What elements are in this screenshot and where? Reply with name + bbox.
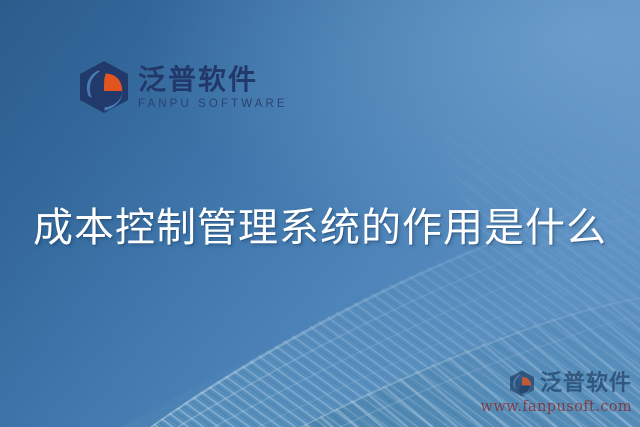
page-title: 成本控制管理系统的作用是什么 [0, 203, 640, 253]
watermark-brand-row: 泛普软件 [509, 370, 632, 397]
watermark: 泛普软件 www.fanpusoft.com [481, 370, 632, 415]
brand-name-en: FANPU SOFTWARE [138, 98, 288, 110]
watermark-url: www.fanpusoft.com [481, 399, 632, 415]
watermark-brand-name: 泛普软件 [540, 373, 632, 395]
brand-logo[interactable]: 泛普软件 FANPU SOFTWARE [78, 60, 288, 114]
promo-banner: 泛普软件 FANPU SOFTWARE 成本控制管理系统的作用是什么 泛普软件 … [0, 0, 640, 427]
fanpu-hexagon-logo-icon [78, 60, 130, 114]
brand-wordmark: 泛普软件 FANPU SOFTWARE [138, 64, 288, 110]
brand-name-cn: 泛普软件 [138, 64, 288, 95]
fanpu-hexagon-logo-icon [509, 370, 535, 397]
